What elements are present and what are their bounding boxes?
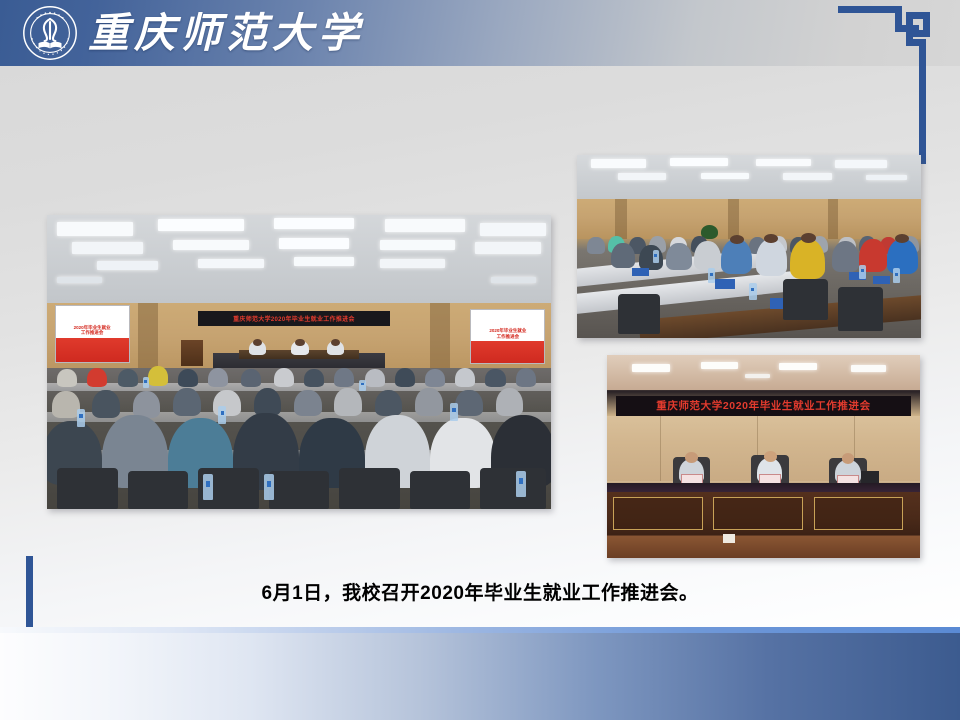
footer-gradient-band [0,633,960,720]
corner-ornament-top-right-icon [838,6,936,164]
university-name-title: 重庆师范大学 [88,2,364,64]
slide-caption: 6月1日，我校召开2020年毕业生就业工作推进会。 [0,578,960,605]
slide-header: 重庆师范大学 [0,0,960,66]
photo-attendees-side-view [577,155,921,338]
university-seal-logo [22,5,78,61]
photo-conference-hall-wide: 重庆师范大学2020年毕业生就业工作推进会 2020年毕业生就业 工作推进会 2… [47,215,551,509]
hall-banner: 重庆师范大学2020年毕业生就业工作推进会 [198,311,390,326]
slide-footer [0,627,960,720]
projection-screen-right: 2020年毕业生就业 工作推进会 [470,309,545,364]
photo-presidium-stage: 重庆师范大学2020年毕业生就业工作推进会 [607,355,920,558]
stage-led-banner: 重庆师范大学2020年毕业生就业工作推进会 [616,396,910,416]
projection-screen-left: 2020年毕业生就业 工作推进会 [55,305,130,363]
presentation-slide: 重庆师范大学 [0,0,960,720]
